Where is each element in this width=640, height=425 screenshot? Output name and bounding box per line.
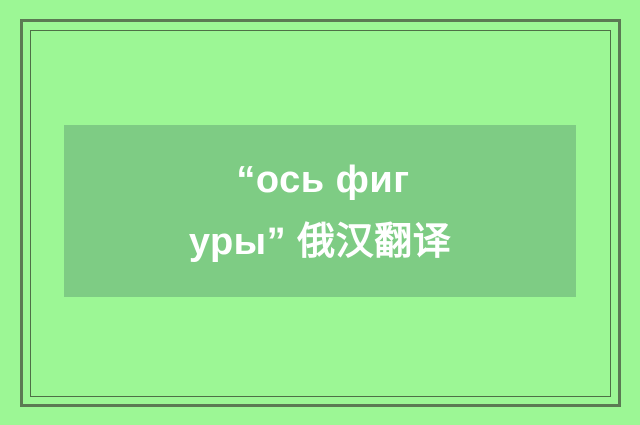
poster-canvas: “ось фиг уры” 俄汉翻译 bbox=[0, 0, 640, 425]
title-card: “ось фиг уры” 俄汉翻译 bbox=[64, 125, 576, 297]
title-line-2: уры” 俄汉翻译 bbox=[64, 211, 576, 273]
title-block: “ось фиг уры” 俄汉翻译 bbox=[64, 149, 576, 273]
title-line-1: “ось фиг bbox=[64, 149, 576, 211]
